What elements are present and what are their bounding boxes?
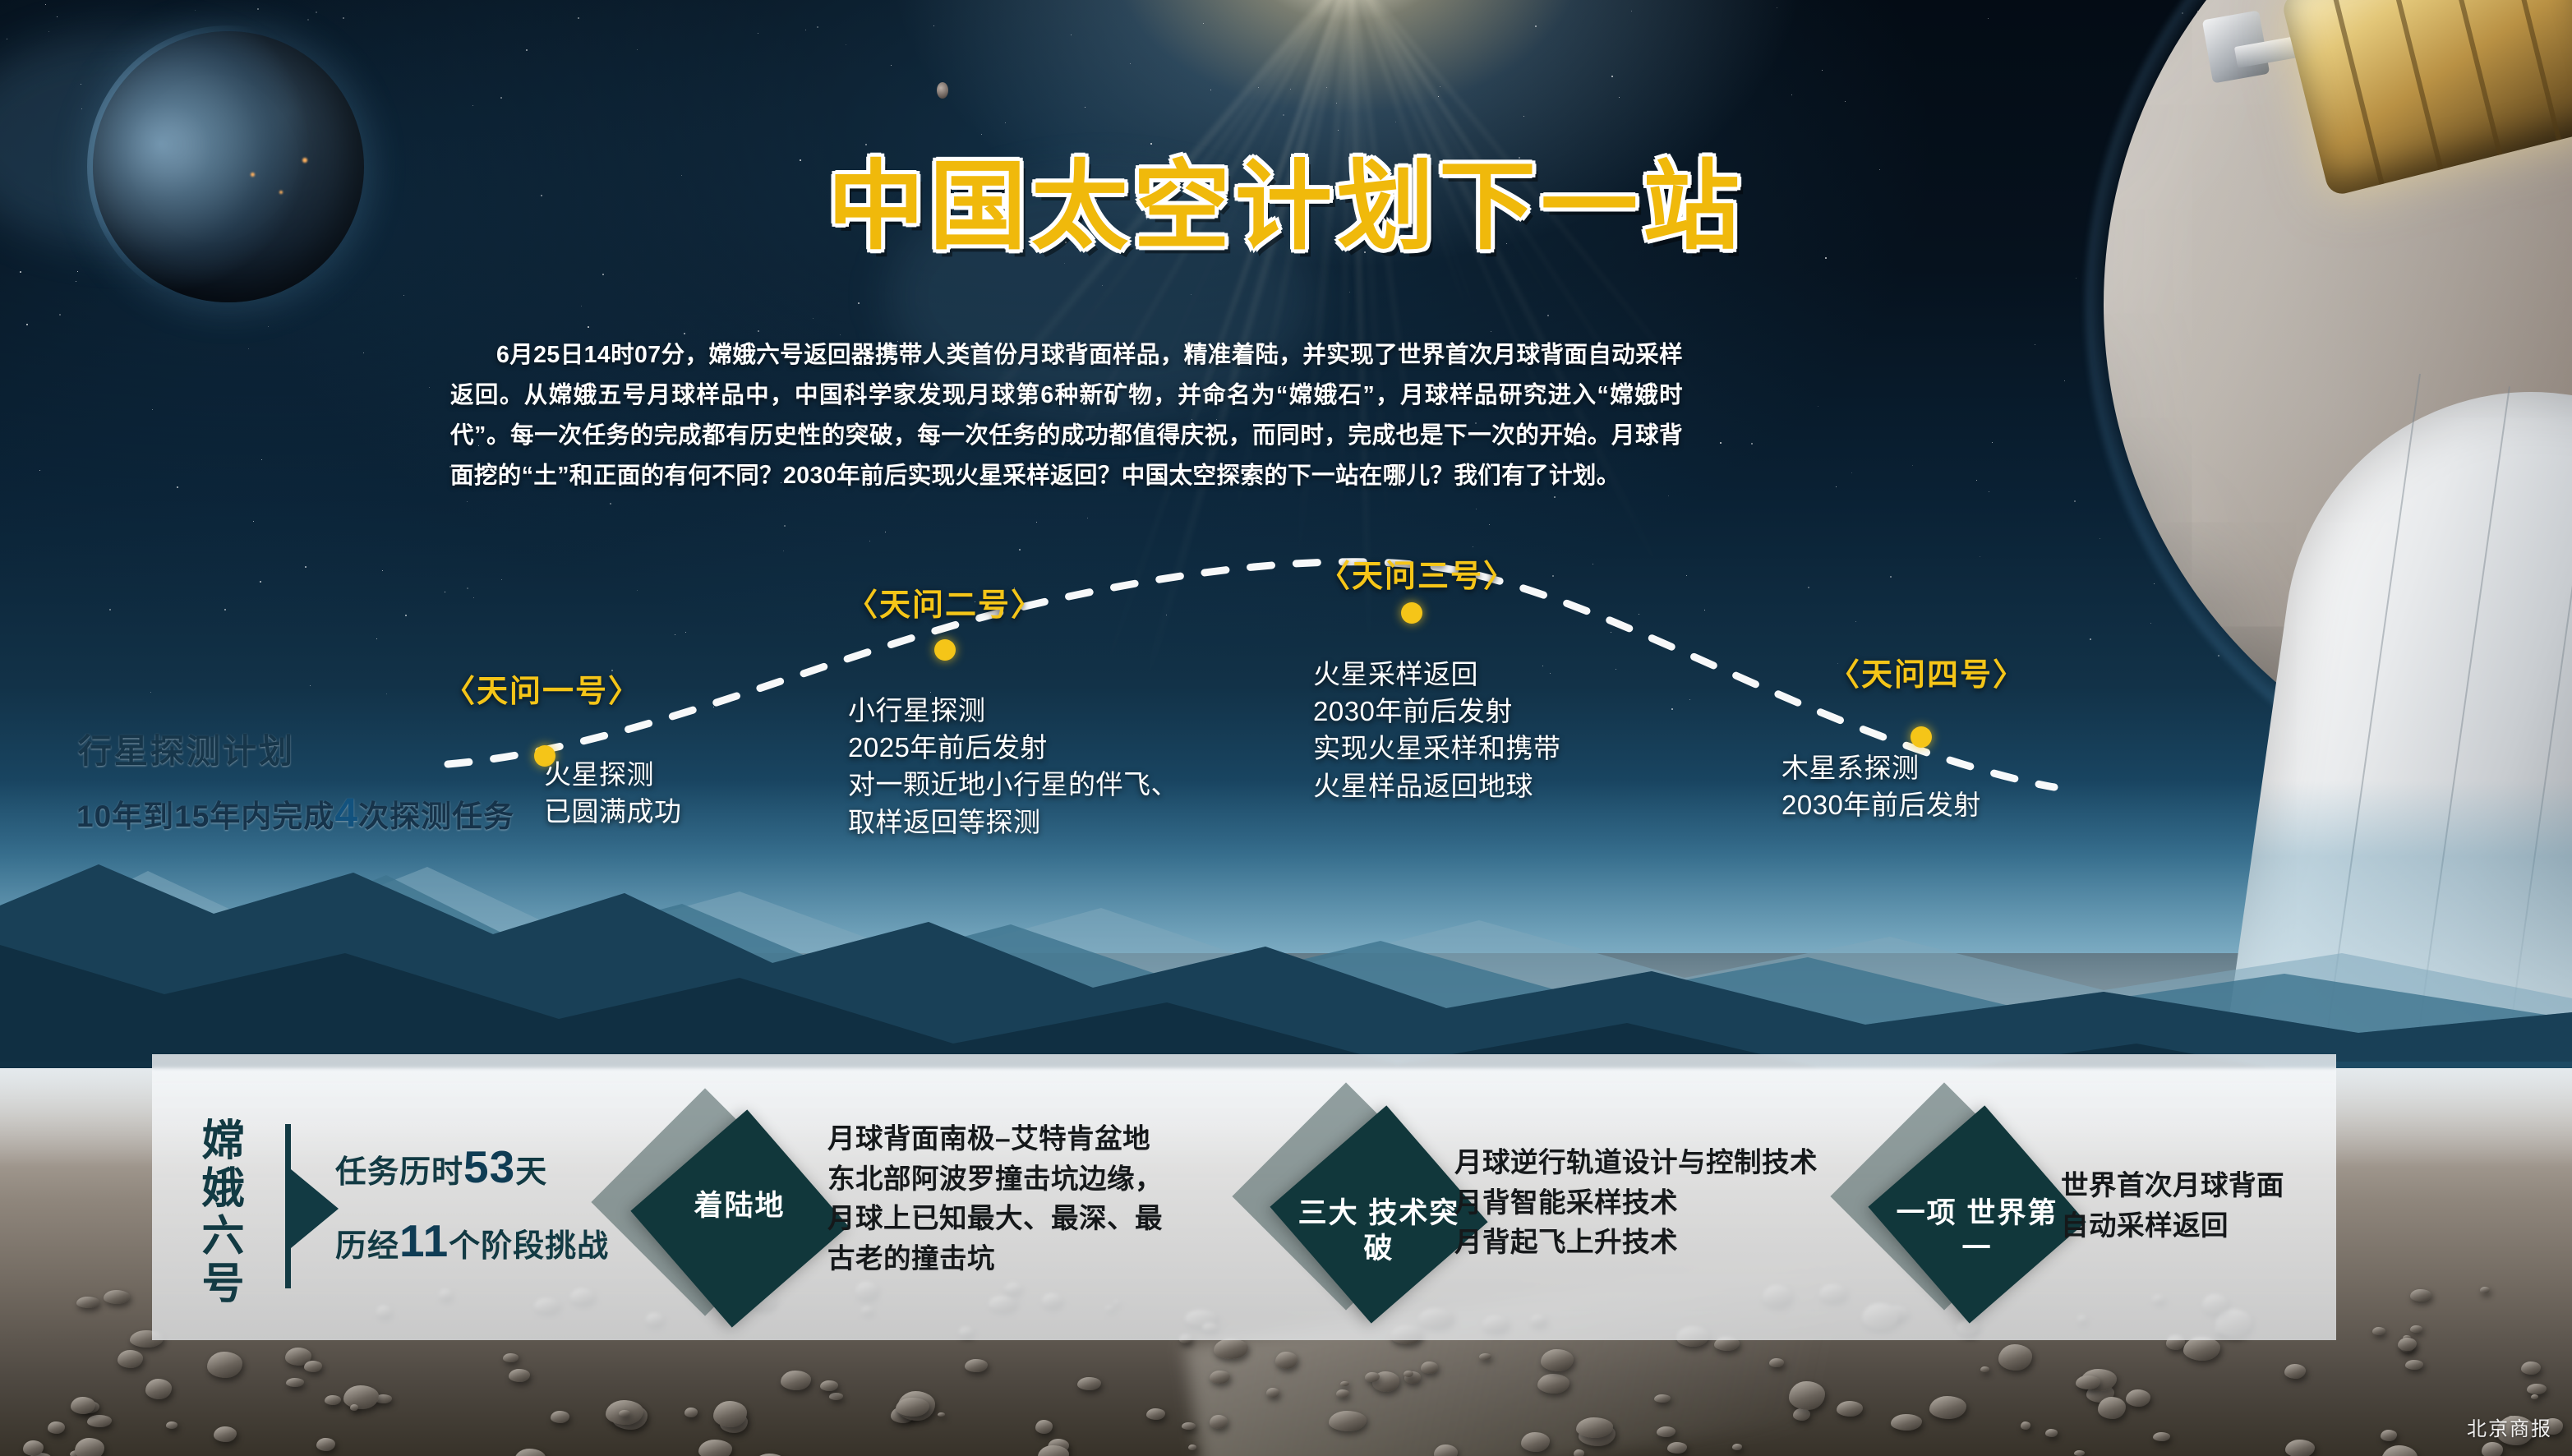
stat-phases-suffix: 个阶段挑战 [449,1229,609,1264]
stat-phases: 历经11个阶段挑战 [335,1214,609,1267]
stat-phases-number: 11 [399,1215,449,1266]
mission-label-4[interactable]: 〈天问四号〉 [1828,649,2026,694]
stat-duration: 任务历时53天 [335,1140,547,1193]
block-text-tech-breakthroughs: 月球逆行轨道设计与控制技术 月背智能采样技术 月背起飞上升技术 [1454,1144,1818,1264]
stat-phases-prefix: 历经 [335,1229,399,1264]
mission-desc-1: 火星探测 已圆满成功 [544,756,682,830]
badge-landing-site-label: 着陆地 [657,1189,822,1224]
mission-label-1[interactable]: 〈天问一号〉 [444,666,641,711]
page-title: 中国太空计划下一站 [0,127,2572,268]
badge-world-first-label: 一项 世界第一 [1895,1196,2059,1266]
infographic-canvas: 中国太空计划下一站 6月25日14时07分，嫦娥六号返回器携带人类首份月球背面样… [0,0,2572,1456]
mission-label-3[interactable]: 〈天问三号〉 [1319,551,1516,596]
mission-node-3[interactable] [1401,602,1422,624]
panel-divider-bar [285,1124,291,1288]
watermark: 北京商报 [2467,1412,2552,1441]
lead-paragraph: 6月25日14时07分，嫦娥六号返回器携带人类首份月球背面样品，精准着陆，并实现… [450,335,1683,496]
block-text-world-first: 世界首次月球背面 自动采样返回 [2061,1167,2284,1246]
mission-label-2[interactable]: 〈天问二号〉 [846,579,1044,624]
stat-duration-prefix: 任务历时 [335,1155,463,1190]
block-text-landing-site: 月球背面南极–艾特肯盆地 东北部阿波罗撞击坑边缘， 月球上已知最大、最深、最 古… [827,1120,1163,1279]
mission-node-4[interactable] [1911,726,1932,748]
moonlet [937,82,948,99]
mission-node-2[interactable] [934,639,956,661]
stat-duration-number: 53 [463,1141,515,1192]
mission-trajectory-arc [0,526,2572,855]
change6-vertical-label: 嫦娥六号 [191,1117,242,1308]
badge-tech-breakthroughs-label: 三大 技术突破 [1297,1196,1461,1266]
mission-desc-2: 小行星探测 2025年前后发射 对一颗近地小行星的伴飞、 取样返回等探测 [848,692,1178,841]
mission-desc-3: 火星采样返回 2030年前后发射 实现火星采样和携带 火星样品返回地球 [1313,656,1561,804]
lead-paragraph-text: 6月25日14时07分，嫦娥六号返回器携带人类首份月球背面样品，精准着陆，并实现… [450,342,1683,489]
stat-duration-suffix: 天 [515,1155,547,1190]
panel-arrow-icon [291,1169,339,1248]
mission-desc-4: 木星系探测 2030年前后发射 [1782,749,1981,823]
